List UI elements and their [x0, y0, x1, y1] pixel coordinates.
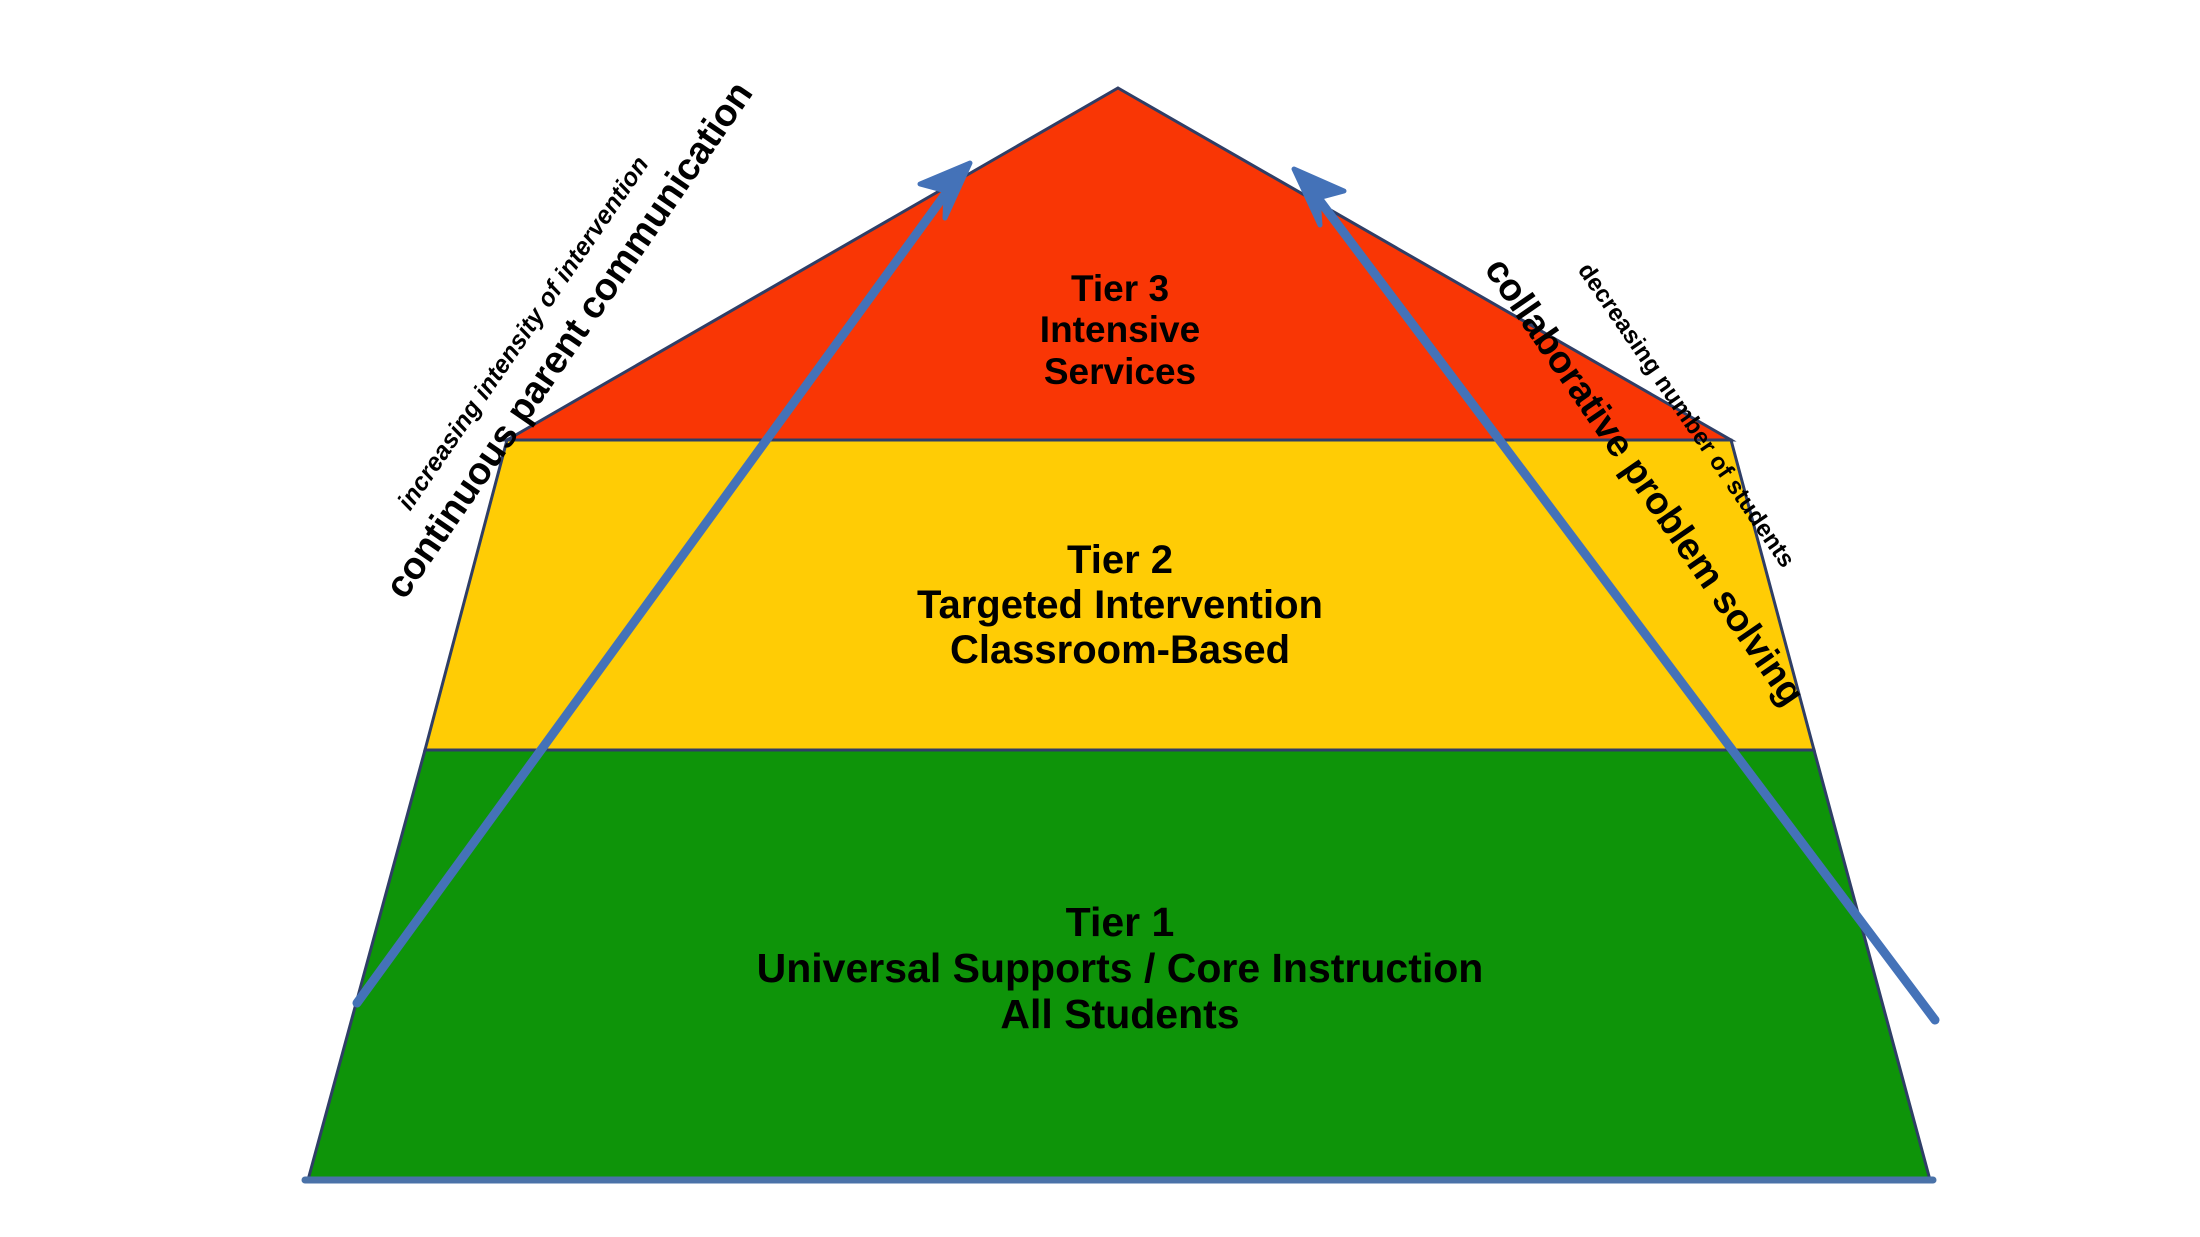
pyramid-diagram-canvas: Tier 3 Intensive Services Tier 2 Targete…	[0, 0, 2200, 1237]
tier-1-shape	[308, 750, 1930, 1180]
tier-2-shape	[425, 440, 1814, 750]
pyramid-graphic	[0, 0, 2200, 1237]
tier-3-shape	[507, 88, 1731, 440]
